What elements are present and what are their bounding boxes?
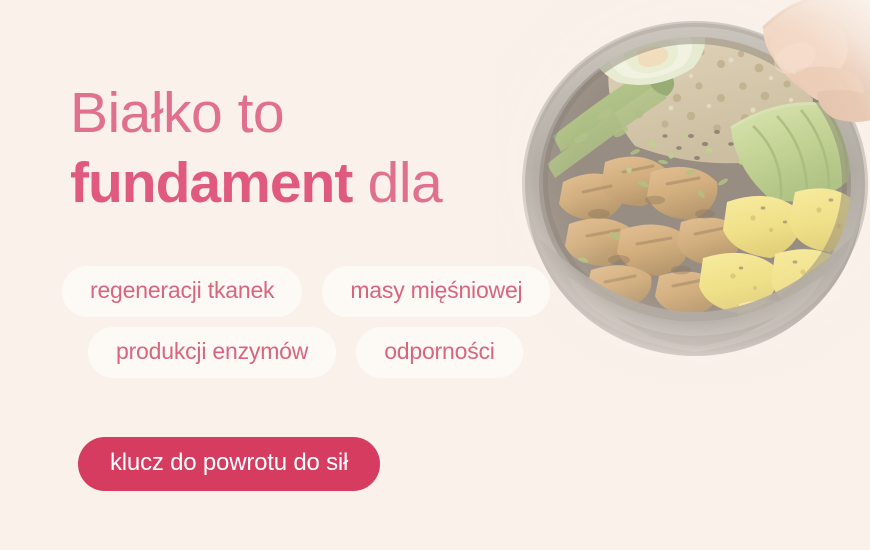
food-bowl-photo xyxy=(495,0,870,396)
cta-button[interactable]: klucz do powrotu do sił xyxy=(78,437,380,491)
benefit-pill-produkcji-enzymow[interactable]: produkcji enzymów xyxy=(88,327,336,378)
benefit-pill-regeneracji-tkanek[interactable]: regeneracji tkanek xyxy=(62,266,302,317)
food-bowl-illustration xyxy=(495,0,870,396)
benefit-pill-row-2: produkcji enzymów odporności xyxy=(88,327,550,378)
benefit-pill-group: regeneracji tkanek masy mięśniowej produ… xyxy=(62,266,550,378)
headline-text-light: Białko to xyxy=(70,81,284,145)
page-title: Białko to fundament dla xyxy=(70,82,442,216)
headline-text-bold: fundament xyxy=(70,151,352,215)
food-bowl-photo-fade xyxy=(495,0,870,396)
benefit-pill-masy-miesniowej[interactable]: masy mięśniowej xyxy=(322,266,550,317)
headline-line-2: fundament dla xyxy=(70,152,442,216)
benefit-pill-row-1: regeneracji tkanek masy mięśniowej xyxy=(62,266,550,317)
headline-text-light-2: dla xyxy=(368,151,443,215)
hero-banner: Białko to fundament dla regeneracji tkan… xyxy=(0,0,870,550)
headline-line-1: Białko to xyxy=(70,82,442,146)
benefit-pill-odpornosci[interactable]: odporności xyxy=(356,327,523,378)
photo-color-wash xyxy=(495,0,870,396)
